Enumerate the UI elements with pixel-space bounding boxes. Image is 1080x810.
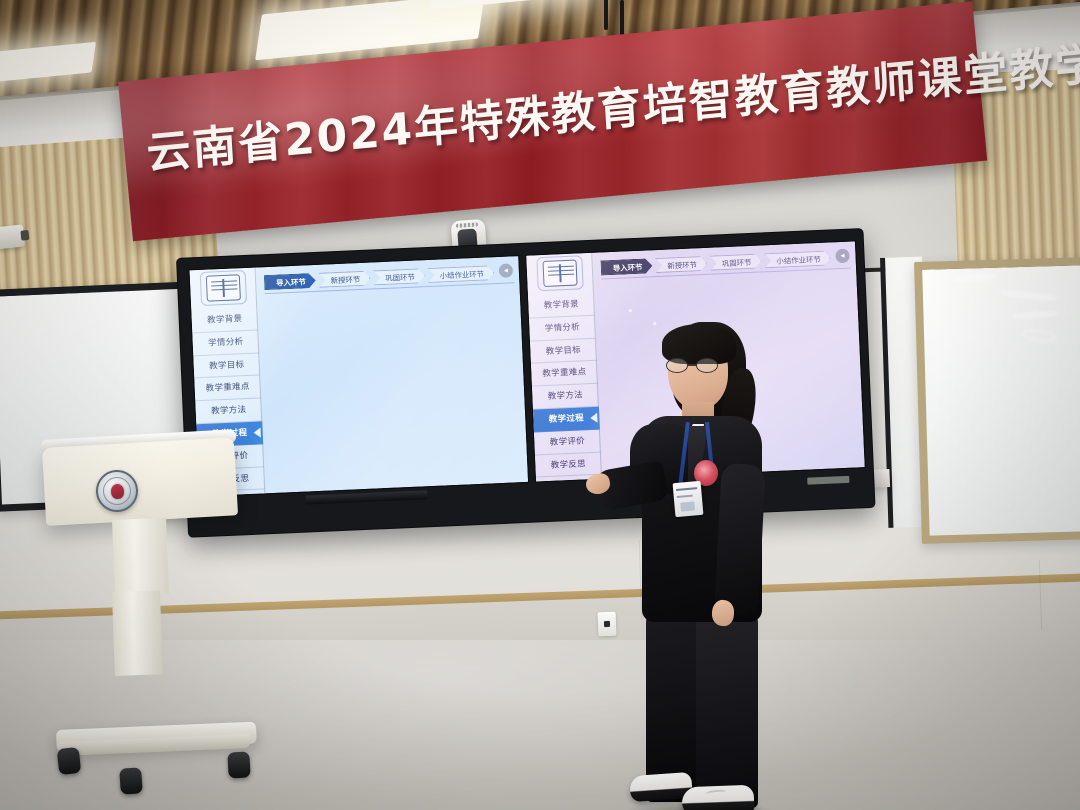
display-sensor-bar: [305, 490, 427, 504]
sidebar-item-methods[interactable]: 教学方法: [195, 399, 262, 425]
tab-introduction[interactable]: 导入环节: [601, 258, 653, 275]
name-badge: [673, 481, 704, 517]
podium-caster: [119, 767, 143, 794]
whiteboard-right: [914, 257, 1080, 544]
presenter-arm-right: [714, 463, 766, 615]
podium-caster: [57, 747, 82, 775]
sidebar-item-objectives[interactable]: 教学目标: [193, 353, 260, 379]
tab-new-lesson[interactable]: 新授环节: [318, 271, 370, 288]
emblem-core: [110, 483, 124, 499]
slide-canvas-left: [257, 286, 528, 493]
tab-summary-homework[interactable]: 小结作业环节: [764, 250, 831, 268]
glasses-bridge: [687, 364, 697, 366]
sidebar-item-objectives[interactable]: 教学目标: [530, 338, 597, 364]
sidebar-item-keypoints[interactable]: 教学重难点: [194, 376, 261, 402]
presenter-leg-right: [696, 612, 758, 808]
sidebar-item-methods[interactable]: 教学方法: [532, 384, 599, 410]
glasses-lens: [696, 358, 718, 373]
wall-speaker: [0, 224, 25, 249]
sidebar-item-background[interactable]: 教学背景: [528, 293, 595, 319]
glasses-lens: [666, 358, 688, 373]
display-left[interactable]: 教学背景 学情分析 教学目标 教学重难点 教学方法 教学过程 教学评价 教学反思…: [189, 255, 530, 497]
sidebar-item-background[interactable]: 教学背景: [191, 308, 258, 334]
tab-summary-homework[interactable]: 小结作业环节: [427, 265, 494, 283]
podium-lectern: [42, 437, 238, 526]
tab-consolidate[interactable]: 巩固环节: [373, 268, 425, 285]
tab-consolidate[interactable]: 巩固环节: [710, 253, 762, 270]
classroom-scene: 云南省2024年特殊教育培智教育教师课堂教学比赛 教学背景 学情分析 教学目标 …: [0, 0, 1080, 810]
open-book-icon: [542, 260, 577, 287]
open-book-icon: [206, 274, 241, 301]
slide-speck: [629, 309, 632, 312]
presenter: [590, 316, 820, 810]
floor: [0, 581, 1080, 810]
podium-caster: [227, 751, 250, 778]
slide-speck: [317, 491, 320, 494]
sidebar-item-analysis[interactable]: 学情分析: [192, 330, 259, 356]
badge-line: [676, 487, 697, 491]
ceiling-hanger-rod: [604, 0, 608, 30]
podium-column-lower: [112, 590, 163, 676]
glasses-icon: [666, 358, 724, 373]
sidebar-item-keypoints[interactable]: 教学重难点: [531, 361, 598, 387]
tab-new-lesson[interactable]: 新授环节: [655, 256, 707, 273]
podium-column-upper: [112, 518, 169, 596]
badge-photo: [680, 501, 695, 511]
badge-line: [677, 495, 693, 498]
sidebar-item-analysis[interactable]: 学情分析: [529, 316, 596, 342]
tab-introduction[interactable]: 导入环节: [264, 273, 316, 290]
